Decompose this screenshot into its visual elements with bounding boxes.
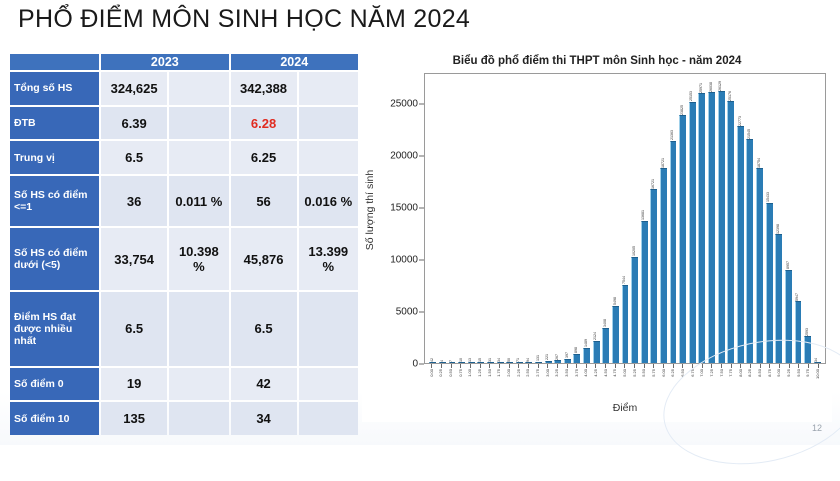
x-axis-ticks: 0.000.250.500.751.001.251.501.752.002.25… — [424, 364, 826, 398]
table-cell-value-2023: 324,625 — [101, 72, 167, 105]
x-tick-slot: 3.25 — [553, 364, 563, 398]
bar-slot[interactable]: 25153 — [687, 74, 697, 363]
bar[interactable] — [497, 362, 504, 363]
x-tick-slot: 0.00 — [427, 364, 437, 398]
bar[interactable] — [641, 221, 648, 363]
bar[interactable] — [679, 115, 686, 363]
bar-value-label: 397 — [566, 352, 570, 358]
bar-value-label: 10 — [460, 358, 464, 362]
bar-slot[interactable]: 34 — [812, 74, 822, 363]
y-tick-label: 15000 — [390, 203, 418, 214]
table-cell-percent-2024 — [299, 107, 358, 140]
y-axis-ticks: 0500010000150002000025000 — [378, 73, 424, 364]
y-tick-label: 0 — [412, 359, 418, 370]
bar[interactable] — [766, 203, 773, 363]
bar-slot[interactable]: 25176 — [726, 74, 736, 363]
x-tick-label: 6.00 — [662, 369, 666, 377]
bar-value-label: 1489 — [585, 339, 589, 347]
x-tick-mark — [528, 364, 529, 368]
x-tick-slot: 9.25 — [784, 364, 794, 398]
x-tick-slot: 5.50 — [639, 364, 649, 398]
bar[interactable] — [775, 234, 782, 363]
bar-slot[interactable]: 267 — [553, 74, 563, 363]
bar-slot[interactable]: 15433 — [764, 74, 774, 363]
bar[interactable] — [660, 168, 667, 363]
table-cell-value-2023: 19 — [101, 368, 167, 401]
x-tick-slot: 5.75 — [649, 364, 659, 398]
plot-area: 4247101315313450719413122126739789814892… — [424, 73, 826, 364]
x-tick-slot: 3.50 — [562, 364, 572, 398]
bar[interactable] — [622, 285, 629, 363]
bar[interactable] — [554, 360, 561, 363]
bar-slot[interactable]: 8957 — [784, 74, 794, 363]
bar-slot[interactable]: 18721 — [659, 74, 669, 363]
bar-value-label: 10205 — [633, 246, 637, 256]
bar[interactable] — [429, 362, 436, 363]
bar-slot[interactable]: 50 — [505, 74, 515, 363]
x-tick-slot: 7.25 — [707, 364, 717, 398]
chart-title: Biểu đồ phổ điểm thi THPT môn Sinh học -… — [362, 55, 832, 67]
x-tick-slot: 7.50 — [717, 364, 727, 398]
bar-value-label: 221 — [546, 354, 550, 360]
bar-slot[interactable]: 5498 — [611, 74, 621, 363]
bar-slot[interactable]: 25971 — [697, 74, 707, 363]
bar-value-label: 23825 — [681, 105, 685, 115]
x-tick-label: 2.25 — [517, 369, 521, 377]
bar-slot[interactable]: 22773 — [736, 74, 746, 363]
x-tick-slot: 2.00 — [504, 364, 514, 398]
table-header-row: 2023 2024 — [10, 54, 358, 70]
bar-value-label: 2124 — [594, 332, 598, 340]
x-tick-slot: 3.00 — [543, 364, 553, 398]
table-cell-percent-2023 — [169, 141, 228, 174]
x-tick-slot: 8.00 — [736, 364, 746, 398]
x-tick-label: 1.00 — [468, 369, 472, 377]
bar-value-label: 5498 — [614, 297, 618, 305]
bar[interactable] — [583, 348, 590, 363]
x-tick-label: 2.75 — [536, 369, 540, 377]
x-tick-mark — [692, 364, 693, 368]
bar[interactable] — [708, 92, 715, 363]
x-tick-label: 3.50 — [565, 369, 569, 377]
x-tick-mark — [480, 364, 481, 368]
table-row-label: Số điểm 0 — [10, 368, 99, 401]
x-tick-mark — [721, 364, 722, 368]
x-tick-slot: 10.00 — [813, 364, 823, 398]
y-tick-label: 10000 — [390, 255, 418, 266]
bar-slot[interactable]: 2593 — [803, 74, 813, 363]
x-tick-mark — [711, 364, 712, 368]
x-tick-mark — [760, 364, 761, 368]
x-tick-slot: 4.75 — [610, 364, 620, 398]
x-tick-mark — [586, 364, 587, 368]
table-cell-percent-2023: 10.398 % — [169, 228, 228, 290]
bar-value-label: 34 — [815, 358, 819, 362]
bar-slot[interactable]: 10 — [457, 74, 467, 363]
x-tick-mark — [557, 364, 558, 368]
bar[interactable] — [545, 361, 552, 363]
x-tick-slot: 8.50 — [755, 364, 765, 398]
bar[interactable] — [612, 306, 619, 363]
bar-value-label: 15 — [479, 358, 483, 362]
bar[interactable] — [468, 362, 475, 363]
table-row-label: Tổng số HS — [10, 72, 99, 105]
table-cell-value-2024: 6.5 — [231, 292, 297, 366]
x-tick-slot: 2.75 — [533, 364, 543, 398]
x-axis-label: Điểm — [424, 402, 826, 414]
x-tick-slot: 1.50 — [485, 364, 495, 398]
bar-slot[interactable]: 18754 — [755, 74, 765, 363]
x-tick-label: 4.00 — [584, 369, 588, 377]
page-number: 12 — [812, 423, 822, 433]
table-cell-value-2023: 6.5 — [101, 292, 167, 366]
table-row: Số HS có điểm dưới (<5)33,75410.398 %45,… — [10, 228, 358, 290]
x-tick-label: 5.00 — [623, 369, 627, 377]
x-tick-mark — [509, 364, 510, 368]
bar-value-label: 71 — [517, 358, 521, 362]
x-tick-slot: 4.25 — [591, 364, 601, 398]
page-title: PHỔ ĐIỂM MÔN SINH HỌC NĂM 2024 — [18, 5, 470, 34]
x-tick-mark — [653, 364, 654, 368]
x-tick-mark — [789, 364, 790, 368]
bar-slot[interactable]: 7 — [447, 74, 457, 363]
x-tick-mark — [576, 364, 577, 368]
table-cell-percent-2024 — [299, 368, 358, 401]
x-tick-mark — [431, 364, 432, 368]
x-tick-mark — [769, 364, 770, 368]
bar-slot[interactable]: 94 — [524, 74, 534, 363]
x-tick-slot: 2.50 — [524, 364, 534, 398]
x-tick-slot: 9.75 — [804, 364, 814, 398]
bar[interactable] — [670, 141, 677, 363]
y-tick-label: 25000 — [390, 99, 418, 110]
x-tick-mark — [818, 364, 819, 368]
x-tick-mark — [567, 364, 568, 368]
table-cell-value-2024: 6.25 — [231, 141, 297, 174]
table-cell-value-2024: 6.28 — [231, 107, 297, 140]
table-row-label: Số điểm 10 — [10, 402, 99, 435]
y-axis-label: Số lượng thí sinh — [362, 47, 378, 372]
x-tick-slot: 3.75 — [572, 364, 582, 398]
x-tick-label: 1.75 — [497, 369, 501, 377]
x-tick-mark — [634, 364, 635, 368]
x-tick-slot: 6.25 — [668, 364, 678, 398]
x-tick-label: 4.25 — [594, 369, 598, 377]
bar[interactable] — [487, 362, 494, 363]
x-tick-mark — [624, 364, 625, 368]
table-row-label: ĐTB — [10, 107, 99, 140]
x-tick-label: 9.50 — [797, 369, 801, 377]
x-tick-mark — [470, 364, 471, 368]
x-tick-mark — [798, 364, 799, 368]
x-tick-slot: 6.50 — [678, 364, 688, 398]
x-tick-slot: 0.25 — [437, 364, 447, 398]
bar[interactable] — [756, 168, 763, 363]
bar-value-label: 13 — [469, 358, 473, 362]
x-tick-slot: 4.00 — [582, 364, 592, 398]
table-cell-percent-2024: 0.016 % — [299, 176, 358, 226]
x-tick-slot: 9.00 — [775, 364, 785, 398]
bar[interactable] — [439, 362, 446, 363]
x-tick-label: 7.75 — [729, 369, 733, 377]
table-header-2024: 2024 — [231, 54, 358, 70]
y-tick-label: 20000 — [390, 151, 418, 162]
table-row: Số điểm 1013534 — [10, 402, 358, 435]
table-cell-percent-2023 — [169, 368, 228, 401]
bar-slot[interactable]: 5947 — [793, 74, 803, 363]
bar-slot[interactable]: 31 — [486, 74, 496, 363]
table-cell-value-2023: 6.39 — [101, 107, 167, 140]
bar-slot[interactable]: 898 — [572, 74, 582, 363]
x-tick-label: 4.75 — [613, 369, 617, 377]
x-tick-label: 6.75 — [691, 369, 695, 377]
bar-slot[interactable]: 13 — [466, 74, 476, 363]
x-tick-label: 3.25 — [555, 369, 559, 377]
bar-slot[interactable]: 1489 — [582, 74, 592, 363]
table-row: Số HS có điểm <=1360.011 %560.016 % — [10, 176, 358, 226]
bar-value-label: 26129 — [719, 81, 723, 91]
table-row-label: Trung vị — [10, 141, 99, 174]
bar-value-label: 131 — [537, 355, 541, 361]
table-cell-percent-2024 — [299, 292, 358, 366]
bar[interactable] — [516, 362, 523, 363]
x-tick-mark — [460, 364, 461, 368]
bar[interactable] — [593, 341, 600, 363]
bar-value-label: 34 — [498, 358, 502, 362]
x-tick-label: 2.00 — [507, 369, 511, 377]
x-tick-mark — [615, 364, 616, 368]
slide-canvas: PHỔ ĐIỂM MÔN SINH HỌC NĂM 2024 2023 2024… — [0, 0, 840, 445]
table-row: Số điểm 01942 — [10, 368, 358, 401]
bar-value-label: 898 — [575, 347, 579, 353]
bar-value-label: 4 — [441, 360, 445, 362]
x-tick-slot: 4.50 — [601, 364, 611, 398]
x-tick-label: 1.25 — [478, 369, 482, 377]
bar[interactable] — [689, 102, 696, 363]
bar-value-label: 50 — [508, 358, 512, 362]
x-tick-mark — [740, 364, 741, 368]
statistics-table-container: 2023 2024 Tổng số HS324,625342,388ĐTB6.3… — [8, 52, 360, 437]
x-tick-slot: 6.00 — [659, 364, 669, 398]
bar-value-label: 267 — [556, 354, 560, 360]
bar-slot[interactable]: 21545 — [745, 74, 755, 363]
bar[interactable] — [785, 270, 792, 363]
bar-value-label: 8957 — [787, 261, 791, 269]
x-tick-label: 8.75 — [768, 369, 772, 377]
bar-slot[interactable]: 131 — [534, 74, 544, 363]
bar-slot[interactable]: 221 — [543, 74, 553, 363]
x-tick-label: 7.25 — [710, 369, 714, 377]
table-cell-percent-2024 — [299, 402, 358, 435]
bar-value-label: 25176 — [729, 91, 733, 101]
bar-value-label: 2593 — [806, 328, 810, 336]
x-tick-slot: 7.75 — [726, 364, 736, 398]
x-tick-label: 0.25 — [439, 369, 443, 377]
bar-value-label: 94 — [527, 358, 531, 362]
x-tick-label: 0.75 — [459, 369, 463, 377]
bar-slot[interactable]: 26129 — [716, 74, 726, 363]
bar[interactable] — [535, 362, 542, 363]
x-tick-mark — [808, 364, 809, 368]
bar-slot[interactable]: 397 — [563, 74, 573, 363]
x-tick-slot: 8.75 — [765, 364, 775, 398]
table-row-label: Số HS có điểm dưới (<5) — [10, 228, 99, 290]
x-tick-label: 0.00 — [430, 369, 434, 377]
x-tick-slot: 0.50 — [446, 364, 456, 398]
bar-slot[interactable]: 26038 — [707, 74, 717, 363]
table-cell-percent-2024: 13.399 % — [299, 228, 358, 290]
bar[interactable] — [718, 91, 725, 363]
x-tick-mark — [499, 364, 500, 368]
table-cell-value-2024: 42 — [231, 368, 297, 401]
x-tick-slot: 5.25 — [630, 364, 640, 398]
x-tick-label: 8.00 — [739, 369, 743, 377]
table-cell-percent-2024 — [299, 141, 358, 174]
table-cell-percent-2023 — [169, 107, 228, 140]
x-tick-slot: 5.00 — [620, 364, 630, 398]
x-tick-label: 6.50 — [681, 369, 685, 377]
x-tick-label: 9.00 — [777, 369, 781, 377]
table-row-label: Điểm HS đạt được nhiều nhất — [10, 292, 99, 366]
bar[interactable] — [477, 362, 484, 363]
bar-value-label: 18754 — [758, 158, 762, 168]
x-tick-label: 5.25 — [633, 369, 637, 377]
bar[interactable] — [449, 362, 456, 363]
x-tick-label: 6.25 — [671, 369, 675, 377]
table-cell-percent-2023: 0.011 % — [169, 176, 228, 226]
bar[interactable] — [631, 257, 638, 363]
x-tick-mark — [673, 364, 674, 368]
bar[interactable] — [698, 93, 705, 363]
table-cell-value-2023: 33,754 — [101, 228, 167, 290]
x-tick-slot: 0.75 — [456, 364, 466, 398]
bar-value-label: 13681 — [642, 210, 646, 220]
bar[interactable] — [795, 301, 802, 363]
bar-slot[interactable]: 7544 — [620, 74, 630, 363]
bar-value-label: 31 — [489, 358, 493, 362]
x-tick-slot: 1.75 — [495, 364, 505, 398]
table-cell-value-2024: 342,388 — [231, 72, 297, 105]
table-row: Trung vị6.56.25 — [10, 141, 358, 174]
x-tick-label: 4.50 — [604, 369, 608, 377]
bar-value-label: 25971 — [700, 83, 704, 93]
bar-value-label: 5947 — [796, 293, 800, 301]
x-tick-label: 2.50 — [526, 369, 530, 377]
bar[interactable] — [804, 336, 811, 363]
bar-value-label: 3408 — [604, 319, 608, 327]
bar[interactable] — [573, 354, 580, 363]
x-tick-slot: 8.25 — [746, 364, 756, 398]
x-tick-mark — [489, 364, 490, 368]
bar-series: 4247101315313450719413122126739789814892… — [425, 74, 825, 363]
bar-value-label: 7544 — [623, 276, 627, 284]
x-tick-label: 8.50 — [758, 369, 762, 377]
x-tick-mark — [702, 364, 703, 368]
bar-slot[interactable]: 16721 — [649, 74, 659, 363]
bar-value-label: 7 — [450, 360, 454, 362]
x-tick-mark — [731, 364, 732, 368]
bar[interactable] — [650, 189, 657, 363]
x-tick-slot: 1.00 — [466, 364, 476, 398]
y-tick-label: 5000 — [396, 307, 418, 318]
x-tick-label: 0.50 — [449, 369, 453, 377]
chart-panel: Biểu đồ phổ điểm thi THPT môn Sinh học -… — [362, 47, 832, 422]
bar-slot[interactable]: 3408 — [601, 74, 611, 363]
table-cell-value-2023: 6.5 — [101, 141, 167, 174]
bar[interactable] — [506, 362, 513, 363]
x-tick-mark — [547, 364, 548, 368]
statistics-table: 2023 2024 Tổng số HS324,625342,388ĐTB6.3… — [8, 52, 360, 437]
bar-slot[interactable]: 10205 — [630, 74, 640, 363]
x-tick-label: 9.25 — [787, 369, 791, 377]
x-tick-slot: 1.25 — [475, 364, 485, 398]
table-row: ĐTB6.396.28 — [10, 107, 358, 140]
x-tick-mark — [441, 364, 442, 368]
table-cell-percent-2023 — [169, 292, 228, 366]
x-tick-slot: 9.50 — [794, 364, 804, 398]
table-cell-percent-2023 — [169, 72, 228, 105]
table-cell-percent-2023 — [169, 402, 228, 435]
table-row-label: Số HS có điểm <=1 — [10, 176, 99, 226]
bar[interactable] — [737, 126, 744, 363]
x-tick-slot: 7.00 — [697, 364, 707, 398]
table-row: Điểm HS đạt được nhiều nhất6.56.5 — [10, 292, 358, 366]
table-cell-value-2024: 34 — [231, 402, 297, 435]
x-tick-mark — [644, 364, 645, 368]
bar-slot[interactable]: 2124 — [591, 74, 601, 363]
bar-value-label: 21363 — [671, 130, 675, 140]
x-tick-mark — [451, 364, 452, 368]
bar-slot[interactable]: 15 — [476, 74, 486, 363]
x-tick-label: 3.00 — [546, 369, 550, 377]
bar[interactable] — [602, 328, 609, 363]
table-header-blank — [10, 54, 99, 70]
x-tick-mark — [538, 364, 539, 368]
bar[interactable] — [525, 362, 532, 363]
bar[interactable] — [458, 362, 465, 363]
bar-value-label: 12398 — [777, 224, 781, 234]
bar[interactable] — [814, 362, 821, 363]
bar-slot[interactable]: 21363 — [668, 74, 678, 363]
bar-slot[interactable]: 4 — [438, 74, 448, 363]
table-body: Tổng số HS324,625342,388ĐTB6.396.28Trung… — [10, 72, 358, 435]
bar-slot[interactable]: 34 — [495, 74, 505, 363]
x-tick-label: 7.50 — [720, 369, 724, 377]
bar-value-label: 26038 — [710, 82, 714, 92]
bar-slot[interactable]: 42 — [428, 74, 438, 363]
x-tick-mark — [518, 364, 519, 368]
bar[interactable] — [564, 359, 571, 363]
x-tick-mark — [605, 364, 606, 368]
y-axis-label-text: Số lượng thí sinh — [364, 169, 376, 249]
x-tick-label: 5.50 — [642, 369, 646, 377]
bar-slot[interactable]: 12398 — [774, 74, 784, 363]
bar[interactable] — [727, 101, 734, 363]
x-tick-label: 5.75 — [652, 369, 656, 377]
x-tick-slot: 6.75 — [688, 364, 698, 398]
bar[interactable] — [746, 139, 753, 363]
x-tick-label: 1.50 — [488, 369, 492, 377]
x-tick-label: 10.00 — [816, 369, 820, 379]
bar-value-label: 15433 — [767, 192, 771, 202]
x-tick-mark — [779, 364, 780, 368]
bar-slot[interactable]: 71 — [514, 74, 524, 363]
bar-value-label: 22773 — [739, 116, 743, 126]
bar-value-label: 18721 — [662, 158, 666, 168]
bar-slot[interactable]: 13681 — [639, 74, 649, 363]
bar-slot[interactable]: 23825 — [678, 74, 688, 363]
x-tick-mark — [750, 364, 751, 368]
